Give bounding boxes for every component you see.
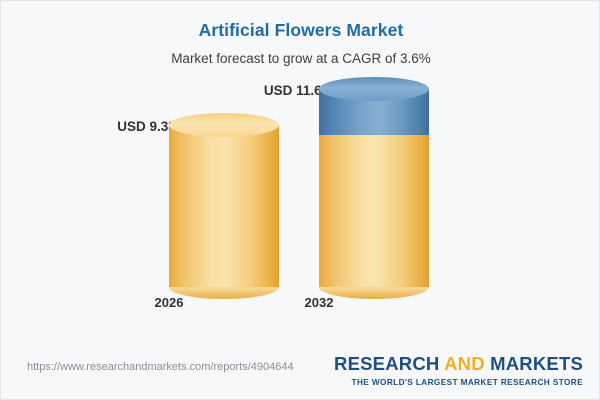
cylinder-2026[interactable] [169,125,279,287]
logo-word-and: AND [444,353,485,374]
logo-tagline: THE WORLD'S LARGEST MARKET RESEARCH STOR… [334,375,583,388]
axis-label-2032: 2032 [305,295,334,311]
logo-word-research: RESEARCH [334,353,444,374]
research-and-markets-logo[interactable]: RESEARCH AND MARKETS THE WORLD'S LARGEST… [334,353,583,388]
cylinder-body-gold-2026 [169,125,279,287]
source-url-link[interactable]: https://www.researchandmarkets.com/repor… [27,360,294,374]
logo-wordmark: RESEARCH AND MARKETS [334,353,583,375]
cylinder-2032[interactable] [319,89,429,287]
logo-word-markets: MARKETS [485,353,583,374]
cylinder-top-cap-2026 [169,113,279,137]
chart-card: Artificial Flowers Market Market forecas… [0,0,600,400]
cylinder-body-gold-2032 [319,135,429,287]
cylinder-top-cap-2032 [319,77,429,101]
axis-label-2026: 2026 [155,295,184,311]
chart-footer: https://www.researchandmarkets.com/repor… [1,347,600,399]
chart-plot-area: USD 9.38 Billion 2026 USD 11.65 Billion … [1,1,600,349]
